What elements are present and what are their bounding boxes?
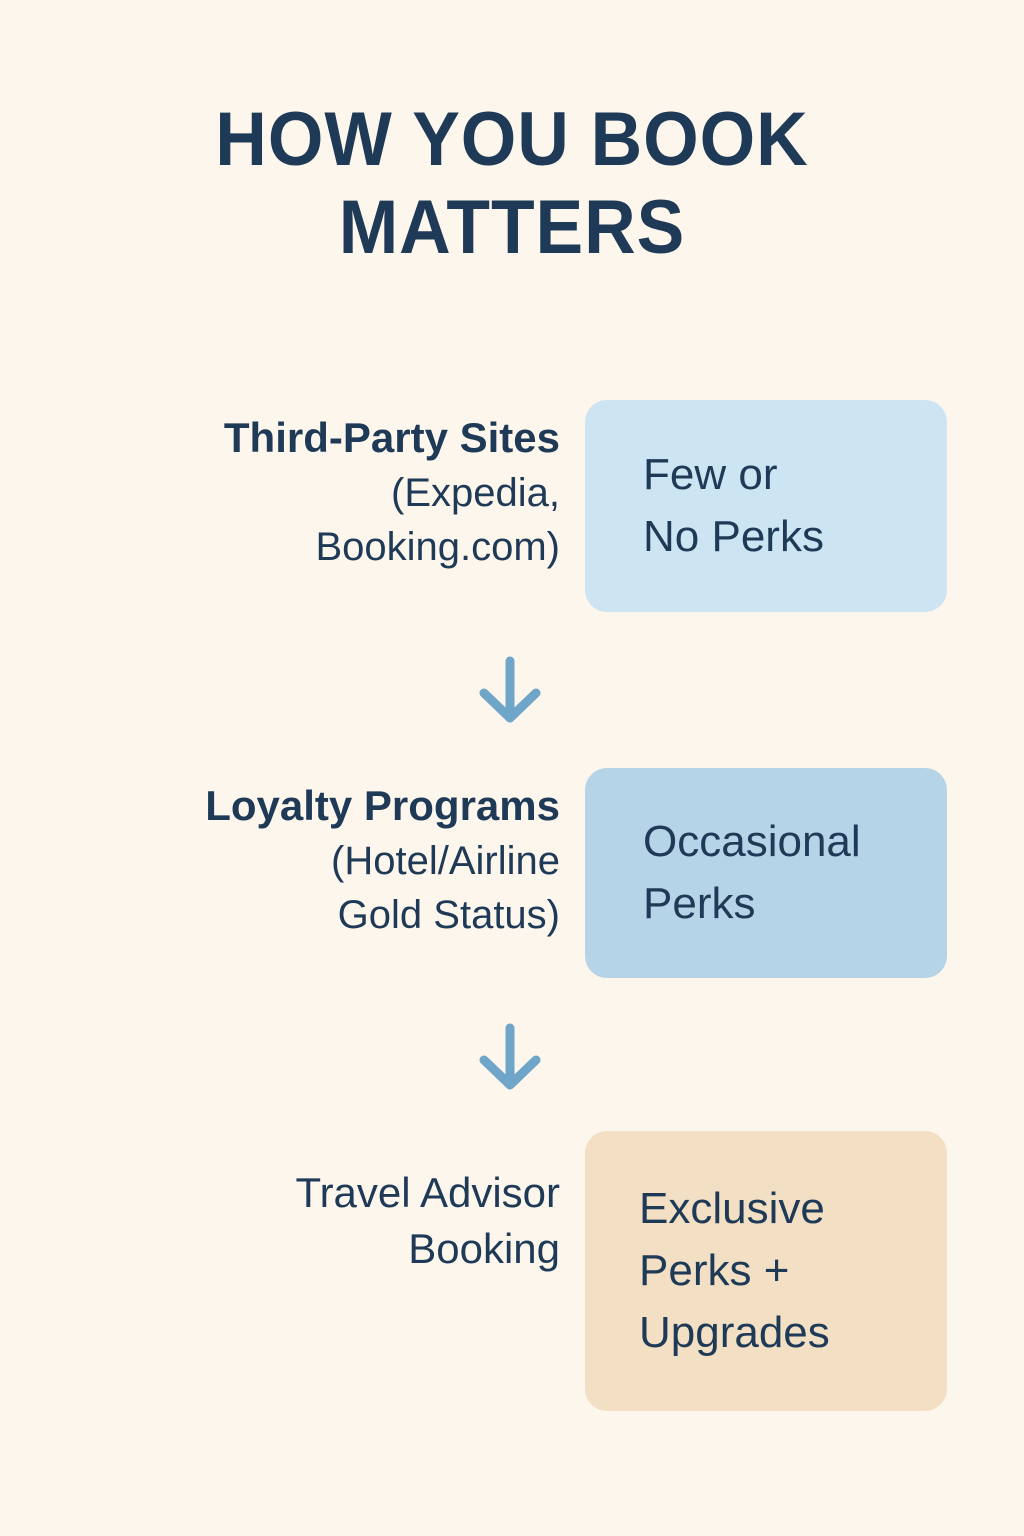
arrow-down-icon	[474, 1022, 546, 1094]
row-label-sub-line1-travel-advisor: Booking	[100, 1221, 560, 1277]
outcome-card-line-2: Perks +	[585, 1240, 947, 1302]
row-label-sub-line1-loyalty-programs: (Hotel/Airline	[100, 834, 560, 888]
outcome-card-line-3: Upgrades	[585, 1302, 947, 1364]
row-label-main-loyalty-programs: Loyalty Programs	[100, 778, 560, 834]
outcome-card-occasional-perks: Occasional Perks	[585, 768, 947, 978]
outcome-card-line-1: Occasional	[585, 811, 947, 873]
outcome-card-exclusive-perks-upgrades: Exclusive Perks + Upgrades	[585, 1131, 947, 1411]
outcome-card-line-1: Exclusive	[585, 1178, 947, 1240]
row-label-sub-line2-loyalty-programs: Gold Status)	[100, 888, 560, 942]
outcome-card-line-1: Few or	[585, 444, 947, 506]
row-label-sub-line2-third-party: Booking.com)	[100, 520, 560, 574]
booking-comparison-flow: Third-Party Sites (Expedia, Booking.com)…	[0, 0, 1024, 1536]
row-label-loyalty-programs: Loyalty Programs (Hotel/Airline Gold Sta…	[100, 778, 570, 942]
row-label-third-party: Third-Party Sites (Expedia, Booking.com)	[100, 410, 570, 574]
outcome-card-few-or-no-perks: Few or No Perks	[585, 400, 947, 612]
outcome-card-line-2: Perks	[585, 873, 947, 935]
row-label-travel-advisor: Travel Advisor Booking	[100, 1165, 570, 1277]
arrow-down-icon	[474, 655, 546, 727]
row-label-sub-line1-third-party: (Expedia,	[100, 466, 560, 520]
row-label-main-third-party: Third-Party Sites	[100, 410, 560, 466]
outcome-card-line-2: No Perks	[585, 506, 947, 568]
row-label-main-travel-advisor: Travel Advisor	[100, 1165, 560, 1221]
